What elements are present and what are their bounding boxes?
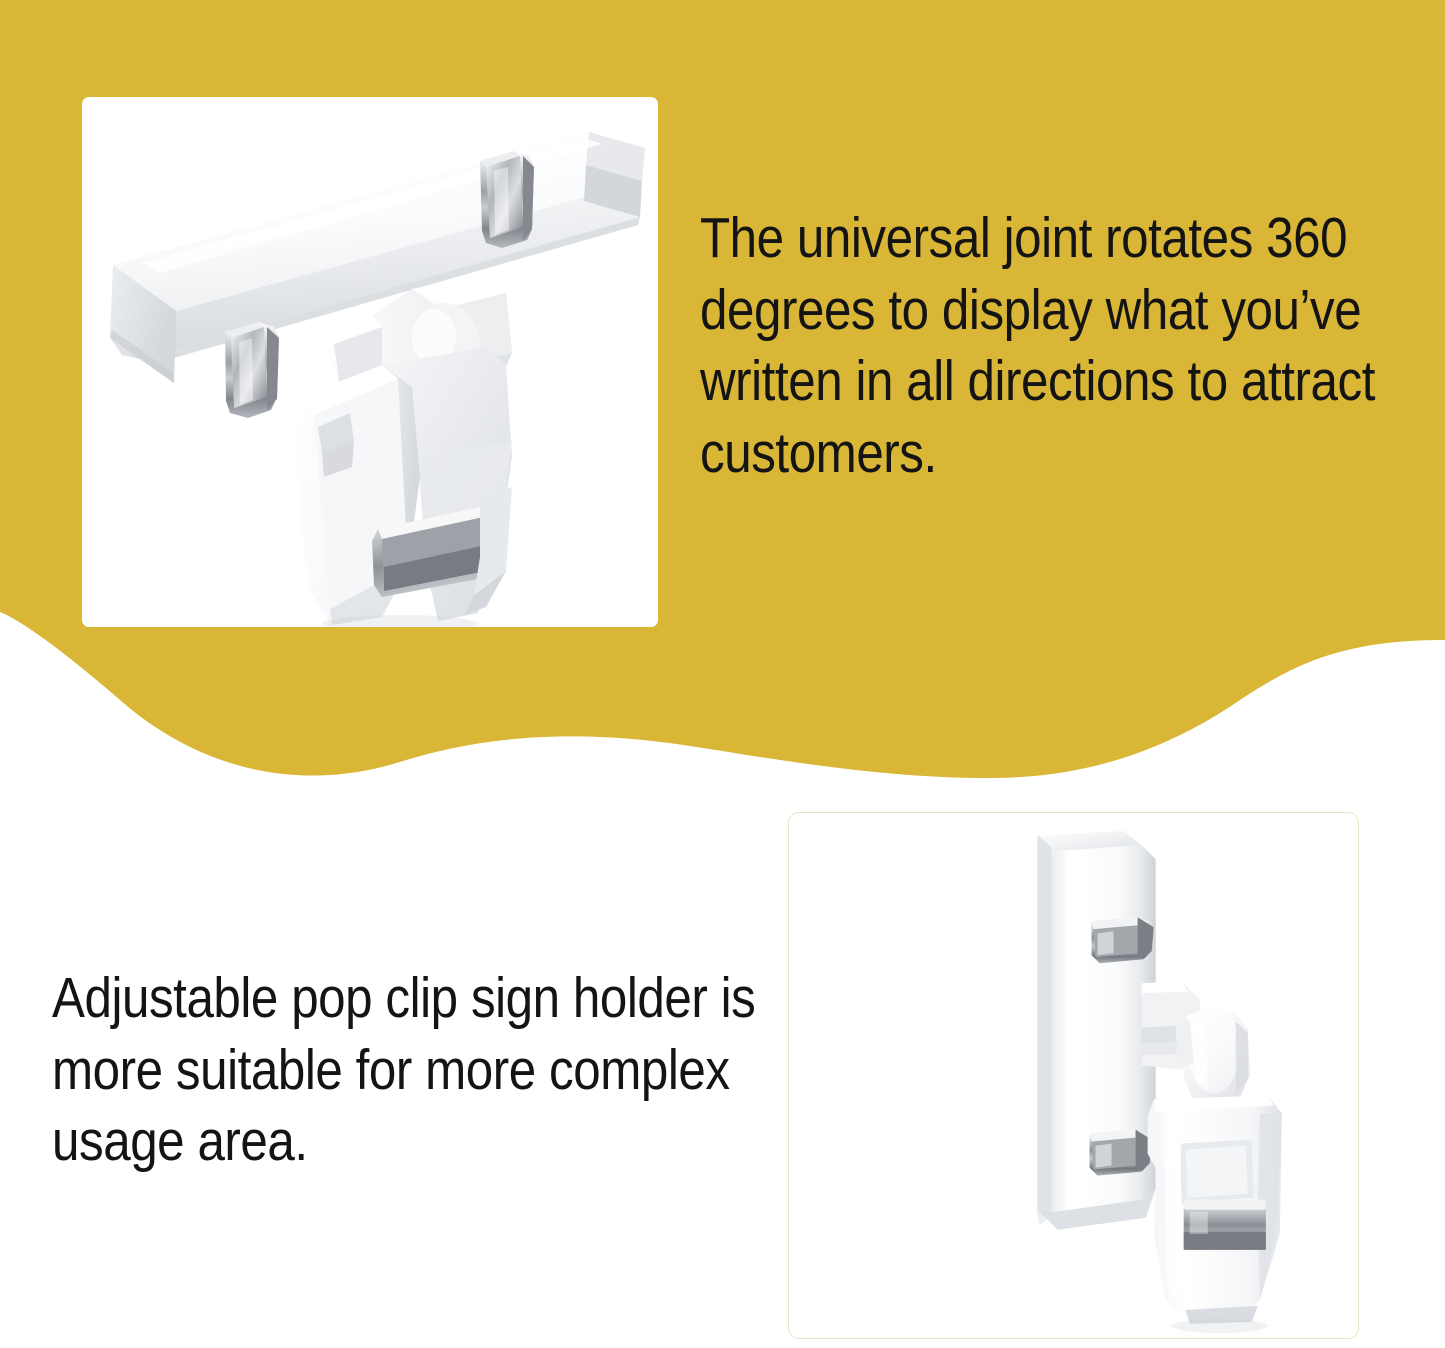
metal-spring-clip-right bbox=[480, 151, 534, 248]
product-image-card-vertical bbox=[788, 812, 1359, 1339]
product-photo-vertical bbox=[789, 813, 1358, 1338]
feature-text-universal-joint: The universal joint rotates 360 degrees … bbox=[700, 203, 1445, 489]
product-shadow bbox=[1172, 1319, 1268, 1333]
product-image-card-angled bbox=[82, 97, 658, 627]
metal-spring-clip-lower bbox=[1090, 1130, 1152, 1176]
feature-text-adjustable: Adjustable pop clip sign holder is more … bbox=[52, 963, 779, 1178]
product-photo-angled bbox=[82, 97, 658, 627]
metal-spring-clip-upper bbox=[1092, 917, 1154, 963]
clamp-metal-spring-plate bbox=[1184, 1200, 1266, 1250]
metal-spring-clip-left bbox=[225, 322, 279, 418]
universal-ball-joint bbox=[1176, 1005, 1250, 1105]
